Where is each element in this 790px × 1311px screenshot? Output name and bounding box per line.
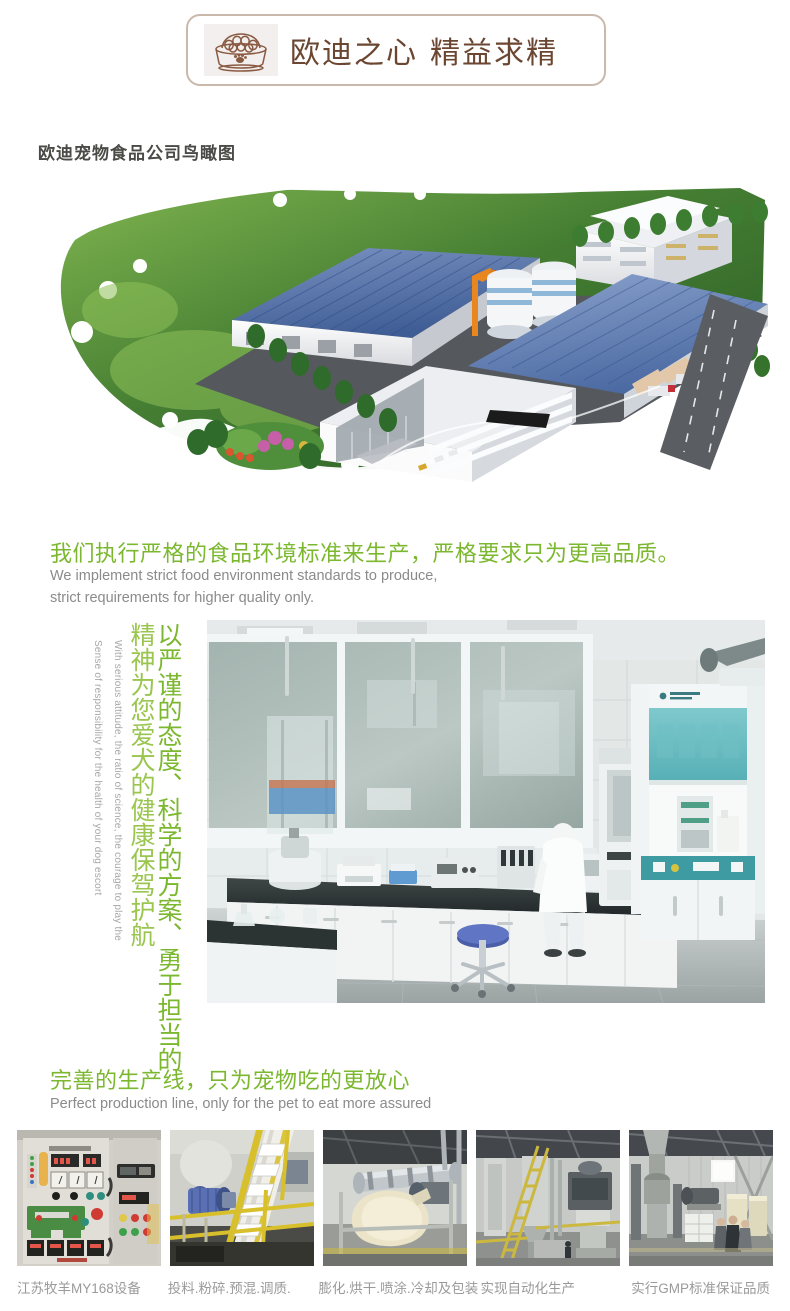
thumb-caption-3: 膨化.烘干.喷涂.冷却及包装	[319, 1277, 472, 1297]
banner-title-right: 精益求精	[430, 36, 558, 71]
production-thumbnail-grid	[17, 1130, 773, 1266]
production-heading-cn: 完善的生产线，只为宠物吃的更放心	[50, 1063, 410, 1095]
vertical-slogan-en-2: Sense of responsibility for the health o…	[92, 640, 102, 895]
thumb-cell-1	[17, 1130, 161, 1266]
production-heading-en: Perfect production line, only for the pe…	[50, 1093, 431, 1115]
thumb-caption-5: 实行GMP标准保证品质	[631, 1277, 773, 1297]
header-banner: 欧迪之心精益求精	[186, 14, 606, 86]
pet-bowl-icon	[204, 24, 278, 76]
thumb-image-automation	[476, 1130, 620, 1266]
aerial-factory-image	[20, 170, 775, 490]
lab-heading-cn: 我们执行严格的食品环境标准来生产，严格要求只为更高品质。	[50, 536, 680, 568]
vertical-slogan-cn-1: 以严谨的态度、科学的方案、勇于担当的	[155, 622, 180, 1072]
thumb-cell-3	[323, 1130, 467, 1266]
lab-heading-en: We implement strict food environment sta…	[50, 565, 437, 610]
vertical-slogan-cn-2: 精神为您爱犬的健康保驾护航	[128, 622, 153, 947]
thumb-cell-5	[629, 1130, 773, 1266]
aerial-section-title: 欧迪宠物食品公司鸟瞰图	[38, 139, 236, 164]
banner-title-left: 欧迪之心	[290, 36, 418, 71]
thumb-cell-4	[476, 1130, 620, 1266]
vertical-slogan-en-1: With serious attitude, the ratio of scie…	[112, 640, 122, 941]
thumb-image-control-panel	[17, 1130, 161, 1266]
thumb-caption-1: 江苏牧羊MY168设备	[17, 1277, 159, 1297]
thumb-caption-2: 投料.粉碎.预混.调质.	[168, 1277, 310, 1297]
laboratory-image	[207, 620, 765, 1003]
production-caption-row: 江苏牧羊MY168设备 投料.粉碎.预混.调质. 膨化.烘干.喷涂.冷却及包装 …	[17, 1277, 773, 1297]
thumb-image-conveyor	[170, 1130, 314, 1266]
thumb-cell-2	[170, 1130, 314, 1266]
thumb-image-gmp-plant	[629, 1130, 773, 1266]
banner-title: 欧迪之心精益求精	[290, 28, 558, 72]
thumb-caption-4: 实现自动化生产	[481, 1277, 623, 1297]
thumb-image-extruder	[323, 1130, 467, 1266]
